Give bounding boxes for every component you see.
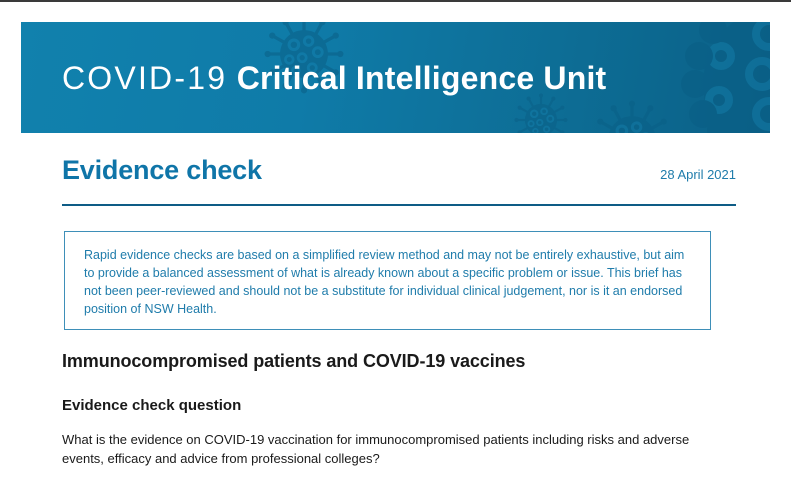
large-virus-right [681, 22, 770, 133]
document-page: COVID-19 Critical Intelligence Unit Evid… [0, 0, 791, 479]
publication-date: 28 April 2021 [660, 167, 736, 182]
disclaimer-text: Rapid evidence checks are based on a sim… [84, 246, 694, 318]
evidence-check-header: Evidence check 28 April 2021 [62, 155, 736, 197]
question-body: What is the evidence on COVID-19 vaccina… [62, 430, 726, 468]
banner-title: COVID-19 Critical Intelligence Unit [62, 52, 606, 104]
document-title: Immunocompromised patients and COVID-19 … [62, 351, 525, 372]
header-divider [62, 204, 736, 206]
banner-title-covid: COVID-19 [62, 60, 227, 96]
banner-title-unit: Critical Intelligence Unit [237, 60, 607, 96]
page-title: Evidence check [62, 155, 262, 186]
page-banner: COVID-19 Critical Intelligence Unit [21, 22, 770, 133]
disclaimer-box: Rapid evidence checks are based on a sim… [64, 231, 711, 330]
question-heading: Evidence check question [62, 397, 241, 414]
top-edge-strip [0, 0, 791, 2]
